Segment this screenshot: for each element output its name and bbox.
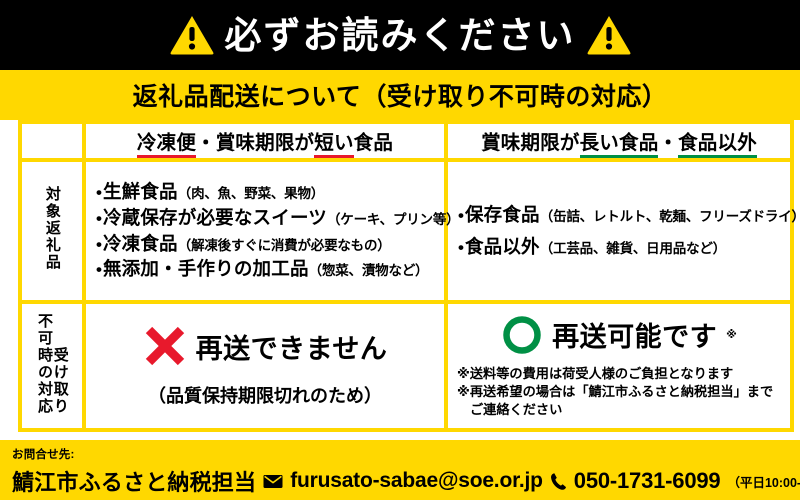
list-item-sub: （工芸品、雑貨、日用品など） <box>540 241 726 256</box>
list-item-sub: （缶詰、レトルト、乾麺、フリーズドライ） <box>540 209 800 224</box>
list-item-main: 無添加・手作りの加工品 <box>103 258 309 279</box>
bullet-list-right: •保存食品（缶詰、レトルト、乾麺、フリーズドライ） •食品以外（工芸品、雑貨、日… <box>448 188 790 274</box>
row-label-text-col-a: 受け取り <box>52 347 68 415</box>
footer-department: 鯖江市ふるさと納税担当 <box>12 465 256 497</box>
circle-mark-icon <box>501 314 543 356</box>
list-item-sub: （解凍後すぐに消費が必要なもの） <box>178 238 391 253</box>
result-right-line: 再送可能です※ <box>448 314 790 356</box>
table-row: 不可時の対応受け取り 再送できません （品質保持期限切れのため） <box>20 302 792 430</box>
column-header-left-part2: 賞味期限が <box>216 132 315 154</box>
list-item-main: 保存食品 <box>465 204 540 225</box>
result-left-subtext: （品質保持期限切れのため） <box>86 382 444 408</box>
list-item-sub: （肉、魚、野菜、果物） <box>178 186 324 201</box>
bullet-list-left: •生鮮食品（肉、魚、野菜、果物） •冷蔵保存が必要なスイーツ（ケーキ、プリン等）… <box>86 171 444 291</box>
bullet-dot-icon: • <box>96 235 102 254</box>
poster-root: 必ずお読みください 返礼品配送について（受け取り不可時の対応） 冷凍便・賞味期限… <box>0 0 800 500</box>
result-left-text: 再送できません <box>196 327 388 366</box>
column-header-right-sep: ・ <box>658 132 678 154</box>
bullet-dot-icon: • <box>96 260 102 279</box>
column-header-right: 賞味期限が長い食品・食品以外 <box>446 122 792 160</box>
column-header-left-part1: 冷凍便 <box>137 132 196 158</box>
footer-contact-line: 鯖江市ふるさと納税担当 furusato-sabae@soe.or.jp 050… <box>12 465 788 497</box>
page-title: 必ずお読みください <box>225 17 576 54</box>
subtitle-banner: 返礼品配送について（受け取り不可時の対応） <box>0 70 800 120</box>
result-right-text: 再送可能です <box>552 315 717 354</box>
asterisk-mark: ※ <box>726 328 737 341</box>
column-header-left: 冷凍便・賞味期限が短い食品 <box>84 122 446 160</box>
list-item-main: 冷凍食品 <box>103 233 178 254</box>
row-label-text-col-b: 不可時の対応 <box>36 313 52 415</box>
result-right-cell: 再送可能です※ ※送料等の費用は荷受人様のご負担となります ※再送希望の場合は「… <box>446 302 792 430</box>
list-item-main: 冷蔵保存が必要なスイーツ <box>103 207 327 228</box>
result-left-cell: 再送できません （品質保持期限切れのため） <box>84 302 446 430</box>
column-header-left-part3: 短い <box>314 132 353 158</box>
list-item: •無添加・手作りの加工品（惣菜、漬物など） <box>96 259 436 280</box>
bullet-dot-icon: • <box>96 183 102 202</box>
telephone-icon <box>550 472 567 491</box>
column-header-right-part3: 食品以外 <box>678 132 757 158</box>
target-gifts-left-cell: •生鮮食品（肉、魚、野菜、果物） •冷蔵保存が必要なスイーツ（ケーキ、プリン等）… <box>84 160 446 302</box>
header-banner: 必ずお読みください <box>0 0 800 70</box>
footer-hours: （平日10:00-17:00対応） <box>727 472 800 491</box>
list-item-main: 食品以外 <box>465 236 540 257</box>
note-line: ※再送希望の場合は「鯖江市ふるさと納税担当」まで <box>457 383 790 401</box>
list-item: •生鮮食品（肉、魚、野菜、果物） <box>96 182 436 203</box>
bullet-dot-icon: • <box>96 209 102 228</box>
target-gifts-right-cell: •保存食品（缶詰、レトルト、乾麺、フリーズドライ） •食品以外（工芸品、雑貨、日… <box>446 160 792 302</box>
envelope-icon <box>263 474 283 489</box>
warning-triangle-icon <box>169 14 215 56</box>
bullet-dot-icon: • <box>458 238 464 257</box>
footer-contact-bar: お問合せ先: 鯖江市ふるさと納税担当 furusato-sabae@soe.or… <box>0 440 800 500</box>
note-line: ご連絡ください <box>457 401 790 419</box>
table-header-row: 冷凍便・賞味期限が短い食品 賞味期限が長い食品・食品以外 <box>20 122 792 160</box>
table-row: 対象返礼品 •生鮮食品（肉、魚、野菜、果物） •冷蔵保存が必要なスイーツ（ケーキ… <box>20 160 792 302</box>
list-item: •冷蔵保存が必要なスイーツ（ケーキ、プリン等） <box>96 208 436 229</box>
list-item-sub: （惣菜、漬物など） <box>309 263 429 278</box>
footer-label: お問合せ先: <box>12 446 788 462</box>
result-right-notes: ※送料等の費用は荷受人様のご負担となります ※再送希望の場合は「鯖江市ふるさと納… <box>448 365 790 418</box>
list-item-main: 生鮮食品 <box>103 181 178 202</box>
row-label-text: 対象返礼品 <box>44 186 60 271</box>
result-left-line: 再送できません <box>86 324 444 368</box>
footer-email[interactable]: furusato-sabae@soe.or.jp <box>290 469 543 493</box>
footer-phone[interactable]: 050-1731-6099 <box>574 468 721 494</box>
list-item: •保存食品（缶詰、レトルト、乾麺、フリーズドライ） <box>458 205 782 226</box>
column-header-right-part1: 賞味期限が <box>481 132 580 154</box>
note-line: ※送料等の費用は荷受人様のご負担となります <box>457 365 790 383</box>
list-item: •冷凍食品（解凍後すぐに消費が必要なもの） <box>96 234 436 255</box>
row-label-undeliverable: 不可時の対応受け取り <box>20 302 84 430</box>
subtitle-text: 返礼品配送について（受け取り不可時の対応） <box>133 77 668 113</box>
list-item-sub: （ケーキ、プリン等） <box>327 212 459 227</box>
corner-cell <box>20 122 84 160</box>
cross-mark-icon <box>143 324 187 368</box>
row-label-target-gifts: 対象返礼品 <box>20 160 84 302</box>
list-item: •食品以外（工芸品、雑貨、日用品など） <box>458 237 782 258</box>
column-header-right-part2: 長い食品 <box>580 132 659 158</box>
column-header-left-sep: ・ <box>196 132 216 154</box>
info-table: 冷凍便・賞味期限が短い食品 賞味期限が長い食品・食品以外 対象返礼品 •生鮮 <box>18 120 782 432</box>
column-header-left-part4: 食品 <box>354 132 393 154</box>
bullet-dot-icon: • <box>458 206 464 225</box>
warning-triangle-icon <box>586 14 632 56</box>
